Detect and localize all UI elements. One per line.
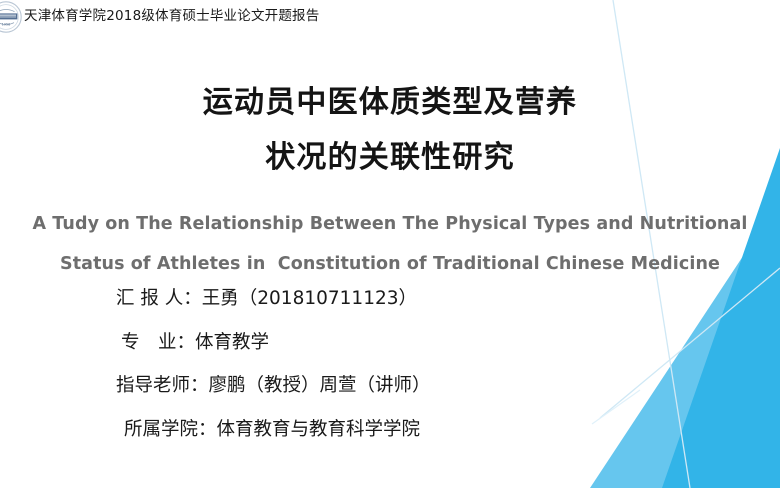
seal-icon: 1958 — [0, 0, 23, 34]
header-title: 天津体育学院2018级体育硕士毕业论文开题报告 — [24, 10, 319, 25]
info-presenter: 汇 报 人：王勇（201810711123） — [116, 290, 676, 309]
svg-text:1958: 1958 — [2, 22, 11, 26]
info-major: 专 业：体育教学 — [121, 334, 676, 353]
info-advisors: 指导老师：廖鹏（教授）周萱（讲师） — [116, 377, 676, 396]
slide-title: 运动员中医体质类型及营养 状况的关联性研究 — [0, 88, 780, 173]
title-line-1: 运动员中医体质类型及营养 — [0, 88, 780, 118]
info-college: 所属学院：体育教育与教育科学学院 — [124, 421, 676, 440]
subtitle-line-2: Status of Athletes in Constitution of Tr… — [0, 256, 780, 274]
slide-subtitle: A Tudy on The Relationship Between The P… — [0, 216, 780, 273]
slide-info-block: 汇 报 人：王勇（201810711123） 专 业：体育教学 指导老师：廖鹏（… — [116, 290, 676, 439]
title-line-2: 状况的关联性研究 — [0, 143, 780, 173]
subtitle-line-1: A Tudy on The Relationship Between The P… — [0, 216, 780, 234]
slide-header: 1958 天津体育学院2018级体育硕士毕业论文开题报告 — [0, 0, 780, 34]
dark-blue-triangle — [662, 148, 780, 488]
university-logo: 1958 — [0, 0, 23, 34]
presentation-slide: 1958 天津体育学院2018级体育硕士毕业论文开题报告 运动员中医体质类型及营… — [0, 0, 780, 488]
